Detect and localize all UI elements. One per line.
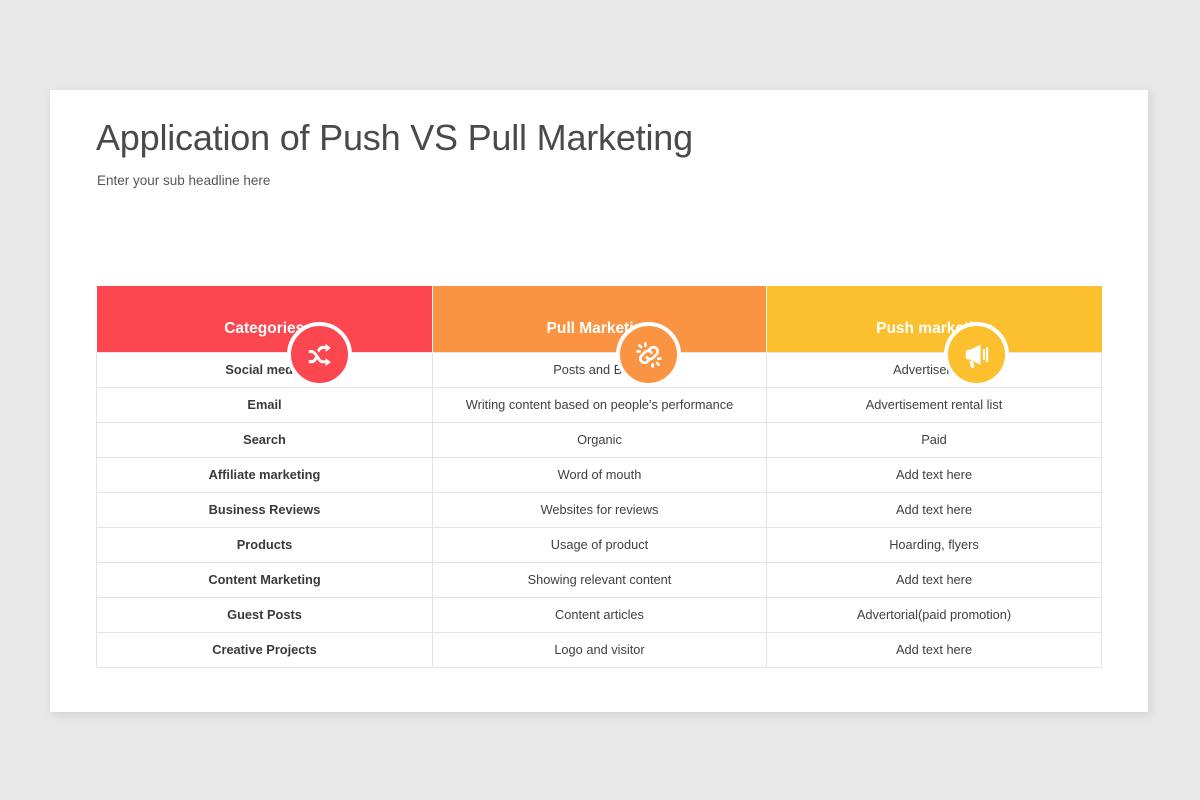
cell-push-marketing: Add text here xyxy=(767,562,1102,597)
megaphone-icon-badge xyxy=(944,322,1009,387)
table-row: Affiliate marketingWord of mouthAdd text… xyxy=(97,457,1102,492)
page-title: Application of Push VS Pull Marketing xyxy=(96,117,693,159)
table-row: ProductsUsage of productHoarding, flyers xyxy=(97,527,1102,562)
column-header-categories: Categories xyxy=(97,286,433,352)
cell-pull-marketing: Posts and Blogs xyxy=(433,352,767,387)
cell-pull-marketing: Websites for reviews xyxy=(433,492,767,527)
cell-pull-marketing: Content articles xyxy=(433,597,767,632)
table-row: SearchOrganicPaid xyxy=(97,422,1102,457)
cell-push-marketing: Paid xyxy=(767,422,1102,457)
column-header-pull-marketing: Pull Marketing xyxy=(433,286,767,352)
cell-category: Social media xyxy=(97,352,433,387)
cell-category: Creative Projects xyxy=(97,632,433,667)
table-row: Guest PostsContent articlesAdvertorial(p… xyxy=(97,597,1102,632)
cell-category: Email xyxy=(97,387,433,422)
table-row: Creative ProjectsLogo and visitorAdd tex… xyxy=(97,632,1102,667)
cell-category: Affiliate marketing xyxy=(97,457,433,492)
cell-push-marketing: Advertisement rental list xyxy=(767,387,1102,422)
cell-push-marketing: Add text here xyxy=(767,632,1102,667)
cell-category: Products xyxy=(97,527,433,562)
cell-category: Guest Posts xyxy=(97,597,433,632)
cell-pull-marketing: Logo and visitor xyxy=(433,632,767,667)
cell-push-marketing: Advertisement xyxy=(767,352,1102,387)
link-icon-badge xyxy=(616,322,681,387)
shuffle-icon-badge xyxy=(287,322,352,387)
cell-category: Business Reviews xyxy=(97,492,433,527)
cell-pull-marketing: Showing relevant content xyxy=(433,562,767,597)
cell-category: Search xyxy=(97,422,433,457)
table-row: EmailWriting content based on people's p… xyxy=(97,387,1102,422)
cell-pull-marketing: Organic xyxy=(433,422,767,457)
cell-push-marketing: Add text here xyxy=(767,457,1102,492)
cell-pull-marketing: Word of mouth xyxy=(433,457,767,492)
cell-push-marketing: Advertorial(paid promotion) xyxy=(767,597,1102,632)
megaphone-icon xyxy=(962,340,992,370)
column-header-push-marketing: Push marketing xyxy=(767,286,1102,352)
table-body: Social mediaPosts and BlogsAdvertisement… xyxy=(97,352,1102,667)
link-icon xyxy=(634,340,664,370)
cell-push-marketing: Add text here xyxy=(767,492,1102,527)
cell-category: Content Marketing xyxy=(97,562,433,597)
slide-card: Application of Push VS Pull Marketing En… xyxy=(50,90,1148,712)
shuffle-icon xyxy=(305,340,335,370)
table-row: Business ReviewsWebsites for reviewsAdd … xyxy=(97,492,1102,527)
cell-push-marketing: Hoarding, flyers xyxy=(767,527,1102,562)
page-subtitle: Enter your sub headline here xyxy=(97,173,270,188)
cell-pull-marketing: Usage of product xyxy=(433,527,767,562)
cell-pull-marketing: Writing content based on people's perfor… xyxy=(433,387,767,422)
slide-canvas: Application of Push VS Pull Marketing En… xyxy=(0,0,1200,800)
table-row: Content MarketingShowing relevant conten… xyxy=(97,562,1102,597)
